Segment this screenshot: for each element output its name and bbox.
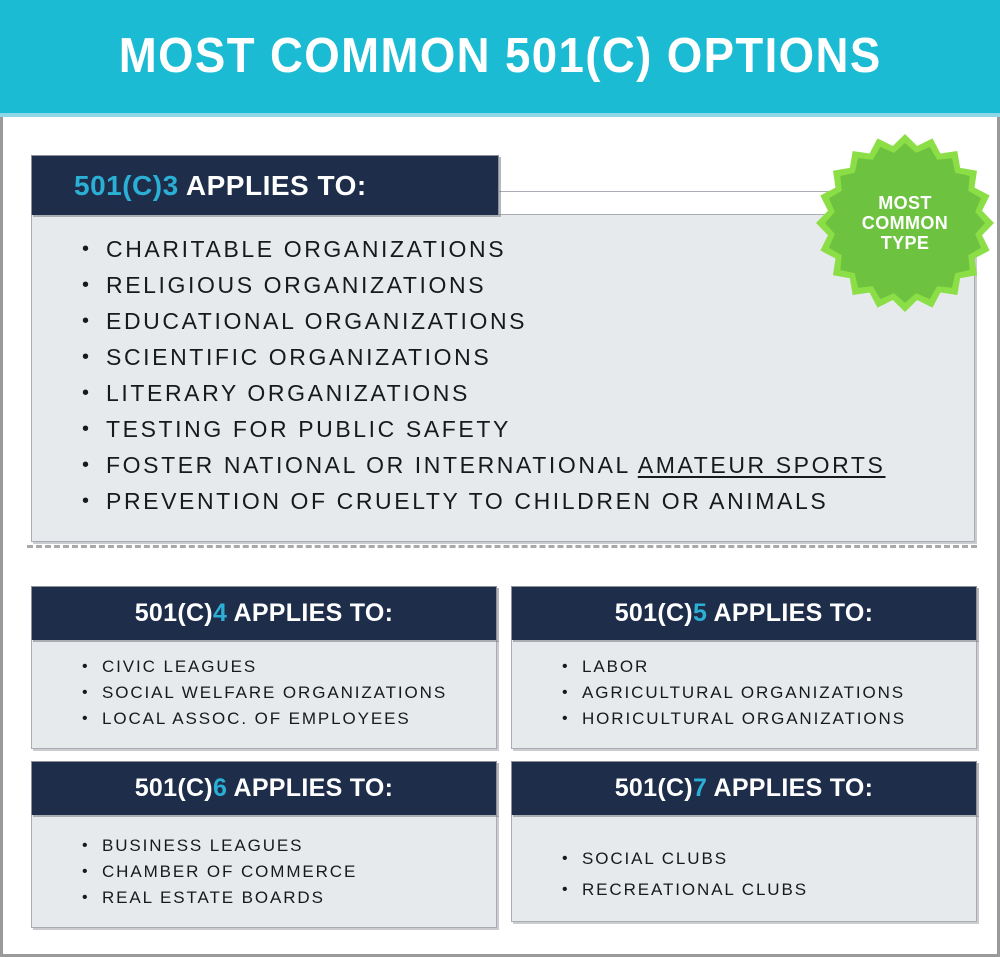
card-501c5: 501(C)5 APPLIES TO: LABORAGRICULTURAL OR… bbox=[511, 586, 977, 749]
card-501c3-item: FOSTER NATIONAL OR INTERNATIONAL AMATEUR… bbox=[78, 447, 974, 483]
card-501c3-item: TESTING FOR PUBLIC SAFETY bbox=[78, 411, 974, 447]
card-501c6-prefix: 501(C) bbox=[135, 774, 213, 802]
section-divider bbox=[27, 545, 977, 548]
card-501c4-applies-label: APPLIES TO: bbox=[227, 599, 393, 627]
card-501c5-list: LABORAGRICULTURAL ORGANIZATIONSHORICULTU… bbox=[512, 654, 976, 732]
card-501c3-item: PREVENTION OF CRUELTY TO CHILDREN OR ANI… bbox=[78, 483, 974, 519]
card-501c5-prefix: 501(C) bbox=[615, 599, 693, 627]
infographic-page: MOST COMMON 501(C) OPTIONS 501(C)3 APPLI… bbox=[0, 0, 1000, 957]
card-501c7-body: SOCIAL CLUBSRECREATIONAL CLUBS bbox=[511, 814, 977, 922]
card-501c4-header-text: 501(C)4 APPLIES TO: bbox=[135, 601, 394, 626]
starburst-icon bbox=[815, 133, 995, 313]
card-501c6-list: BUSINESS LEAGUESCHAMBER OF COMMERCEREAL … bbox=[32, 833, 496, 911]
card-501c6-applies-label: APPLIES TO: bbox=[227, 774, 393, 802]
header-banner: MOST COMMON 501(C) OPTIONS bbox=[0, 0, 1000, 113]
card-501c3-item: SCIENTIFIC ORGANIZATIONS bbox=[78, 339, 974, 375]
card-501c4-item: LOCAL ASSOC. OF EMPLOYEES bbox=[80, 706, 496, 732]
card-501c6-item: CHAMBER OF COMMERCE bbox=[80, 859, 496, 885]
card-501c4-header: 501(C)4 APPLIES TO: bbox=[31, 586, 497, 640]
card-501c7-header: 501(C)7 APPLIES TO: bbox=[511, 761, 977, 815]
card-501c3-header-text: 501(C)3 APPLIES TO: bbox=[74, 172, 367, 200]
card-501c4-item: CIVIC LEAGUES bbox=[80, 654, 496, 680]
card-501c3-item: LITERARY ORGANIZATIONS bbox=[78, 375, 974, 411]
page-title: MOST COMMON 501(C) OPTIONS bbox=[119, 32, 882, 81]
card-501c4-item: SOCIAL WELFARE ORGANIZATIONS bbox=[80, 680, 496, 706]
card-501c3-header: 501(C)3 APPLIES TO: bbox=[31, 155, 499, 215]
card-501c7-item: RECREATIONAL CLUBS bbox=[560, 874, 976, 905]
card-501c5-applies-label: APPLIES TO: bbox=[707, 599, 873, 627]
card-501c7: 501(C)7 APPLIES TO: SOCIAL CLUBSRECREATI… bbox=[511, 761, 977, 922]
card-501c3-code: 501(C)3 bbox=[74, 170, 179, 201]
card-501c6-item: REAL ESTATE BOARDS bbox=[80, 885, 496, 911]
card-501c7-prefix: 501(C) bbox=[615, 774, 693, 802]
card-501c6-header: 501(C)6 APPLIES TO: bbox=[31, 761, 497, 815]
card-501c6-header-text: 501(C)6 APPLIES TO: bbox=[135, 776, 394, 801]
card-501c7-number: 7 bbox=[693, 774, 707, 802]
card-501c6-body: BUSINESS LEAGUESCHAMBER OF COMMERCEREAL … bbox=[31, 814, 497, 928]
card-501c5-header: 501(C)5 APPLIES TO: bbox=[511, 586, 977, 640]
card-501c4-body: CIVIC LEAGUESSOCIAL WELFARE ORGANIZATION… bbox=[31, 639, 497, 749]
card-501c5-body: LABORAGRICULTURAL ORGANIZATIONSHORICULTU… bbox=[511, 639, 977, 749]
card-501c5-number: 5 bbox=[693, 599, 707, 627]
card-501c5-item: LABOR bbox=[560, 654, 976, 680]
most-common-type-badge: MOST COMMON TYPE bbox=[815, 133, 995, 313]
card-501c3-applies-label: APPLIES TO: bbox=[179, 170, 367, 201]
card-501c6-number: 6 bbox=[213, 774, 227, 802]
card-501c7-item: SOCIAL CLUBS bbox=[560, 843, 976, 874]
card-501c7-header-text: 501(C)7 APPLIES TO: bbox=[615, 776, 874, 801]
card-501c7-list: SOCIAL CLUBSRECREATIONAL CLUBS bbox=[512, 843, 976, 905]
card-501c4-list: CIVIC LEAGUESSOCIAL WELFARE ORGANIZATION… bbox=[32, 654, 496, 732]
card-501c6: 501(C)6 APPLIES TO: BUSINESS LEAGUESCHAM… bbox=[31, 761, 497, 928]
card-501c7-applies-label: APPLIES TO: bbox=[707, 774, 873, 802]
amateur-sports-link[interactable]: AMATEUR SPORTS bbox=[638, 452, 886, 478]
card-501c6-item: BUSINESS LEAGUES bbox=[80, 833, 496, 859]
starburst-inner-disc bbox=[825, 143, 985, 303]
card-501c4-number: 4 bbox=[213, 599, 227, 627]
card-501c5-header-text: 501(C)5 APPLIES TO: bbox=[615, 601, 874, 626]
card-501c4: 501(C)4 APPLIES TO: CIVIC LEAGUESSOCIAL … bbox=[31, 586, 497, 749]
card-501c4-prefix: 501(C) bbox=[135, 599, 213, 627]
card-501c5-item: AGRICULTURAL ORGANIZATIONS bbox=[560, 680, 976, 706]
banner-underline bbox=[0, 113, 1000, 117]
card-501c5-item: HORICULTURAL ORGANIZATIONS bbox=[560, 706, 976, 732]
